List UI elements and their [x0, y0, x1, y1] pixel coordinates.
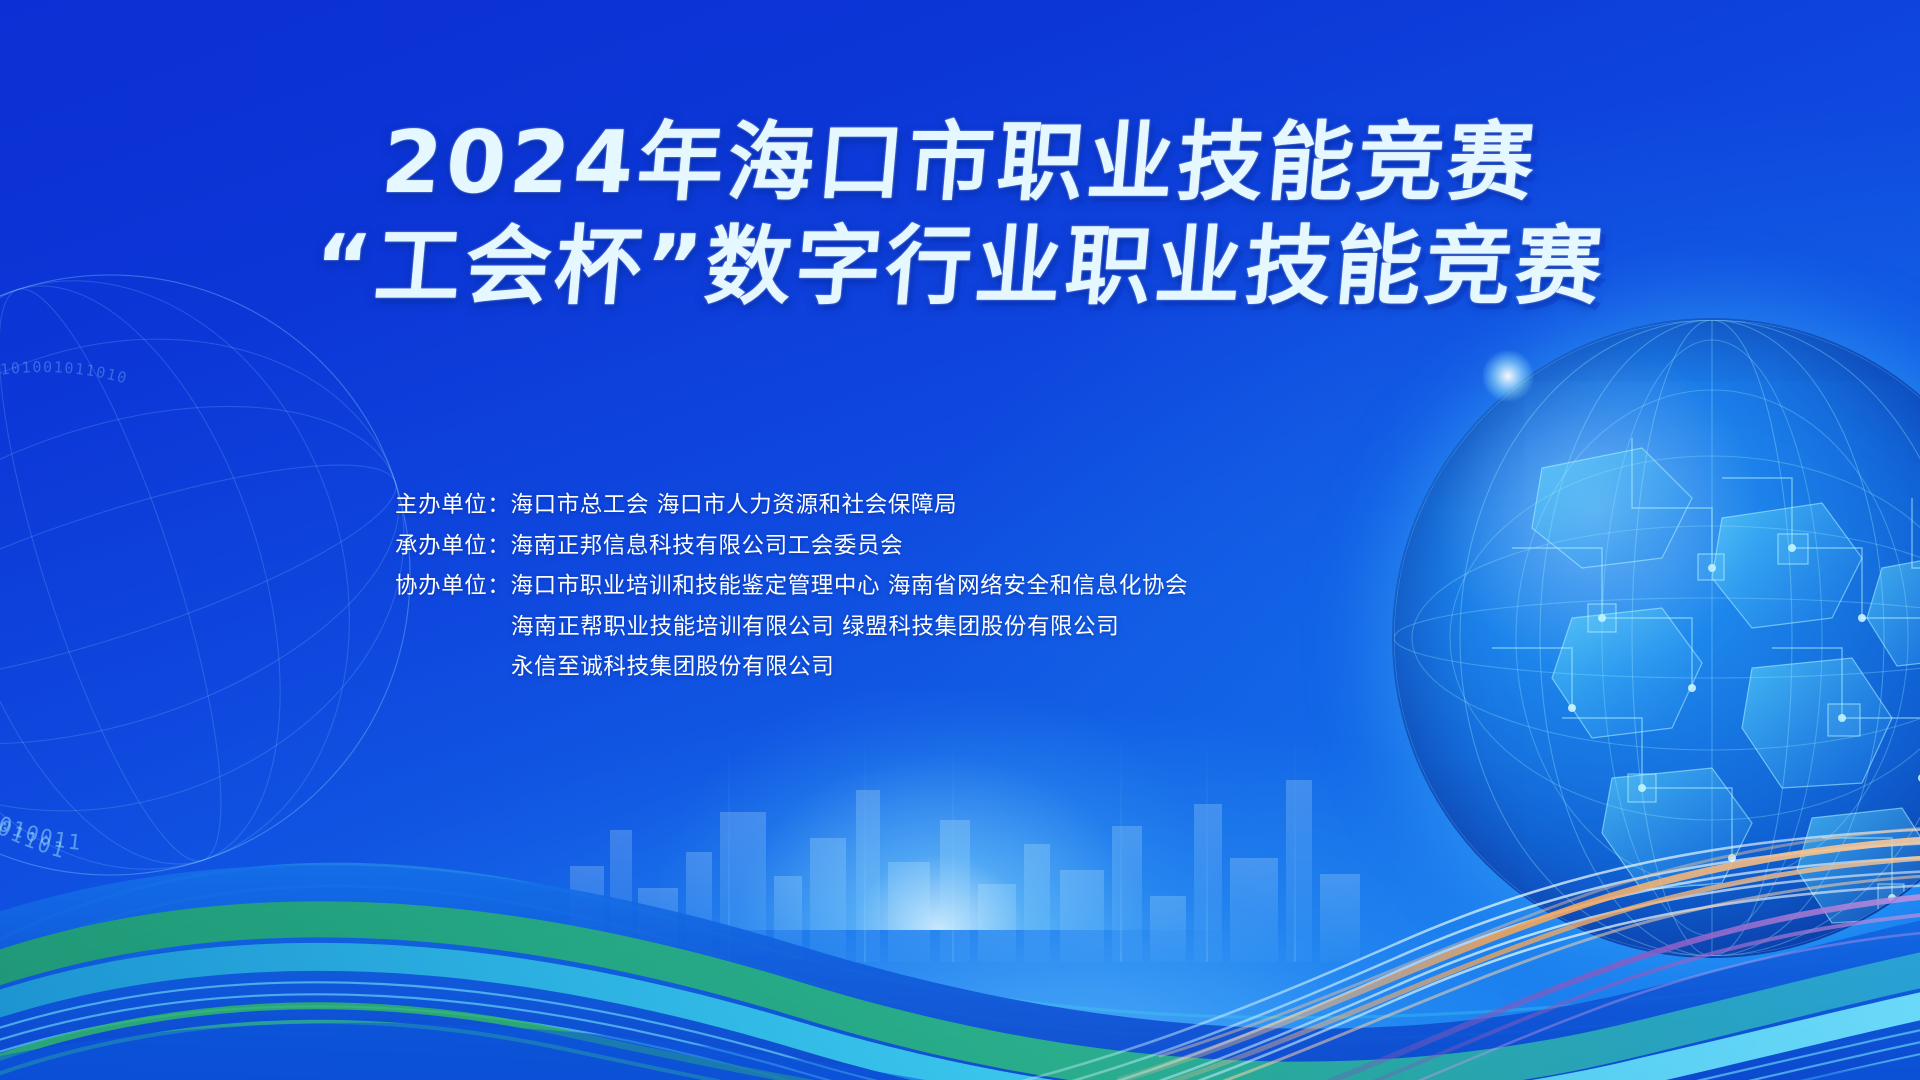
- organizer-line-host: 主办单位：海口市总工会 海口市人力资源和社会保障局: [395, 494, 957, 517]
- organizer-row: 协办单位：海口市职业培训和技能鉴定管理中心 海南省网络安全和信息化协会: [395, 575, 1525, 616]
- wave-svg: [0, 660, 1920, 1080]
- organizer-line-coorganizer-3: 永信至诚科技集团股份有限公司: [511, 656, 834, 679]
- organizer-line-coorganizer-2: 海南正帮职业技能培训有限公司 绿盟科技集团股份有限公司: [511, 616, 1119, 639]
- page-title-line-1: 2024年海口市职业技能竞赛: [0, 118, 1920, 208]
- organizer-row: 永信至诚科技集团股份有限公司: [395, 656, 1525, 697]
- organizer-line-coorganizer: 协办单位：海口市职业培训和技能鉴定管理中心 海南省网络安全和信息化协会: [395, 575, 1188, 598]
- binary-string: 101101001011010: [0, 358, 130, 388]
- page-title-line-2: “工会杯”数字行业职业技能竞赛: [0, 222, 1920, 312]
- organizer-row: 海南正帮职业技能培训有限公司 绿盟科技集团股份有限公司: [395, 616, 1525, 657]
- organizer-row: 主办单位：海口市总工会 海口市人力资源和社会保障局: [395, 494, 1525, 535]
- organizer-row: 承办单位：海南正邦信息科技有限公司工会委员会: [395, 535, 1525, 576]
- globe-highlight: [1482, 350, 1534, 402]
- poster-canvas: 1010110010110 110101101011010 0100010110…: [0, 0, 1920, 1080]
- flowing-ribbon-waves: [0, 660, 1920, 1080]
- title-block: 2024年海口市职业技能竞赛 “工会杯”数字行业职业技能竞赛: [0, 118, 1920, 313]
- organizer-info-block: 主办单位：海口市总工会 海口市人力资源和社会保障局 承办单位：海南正邦信息科技有…: [0, 494, 1920, 697]
- organizer-line-undertaker: 承办单位：海南正邦信息科技有限公司工会委员会: [395, 535, 903, 558]
